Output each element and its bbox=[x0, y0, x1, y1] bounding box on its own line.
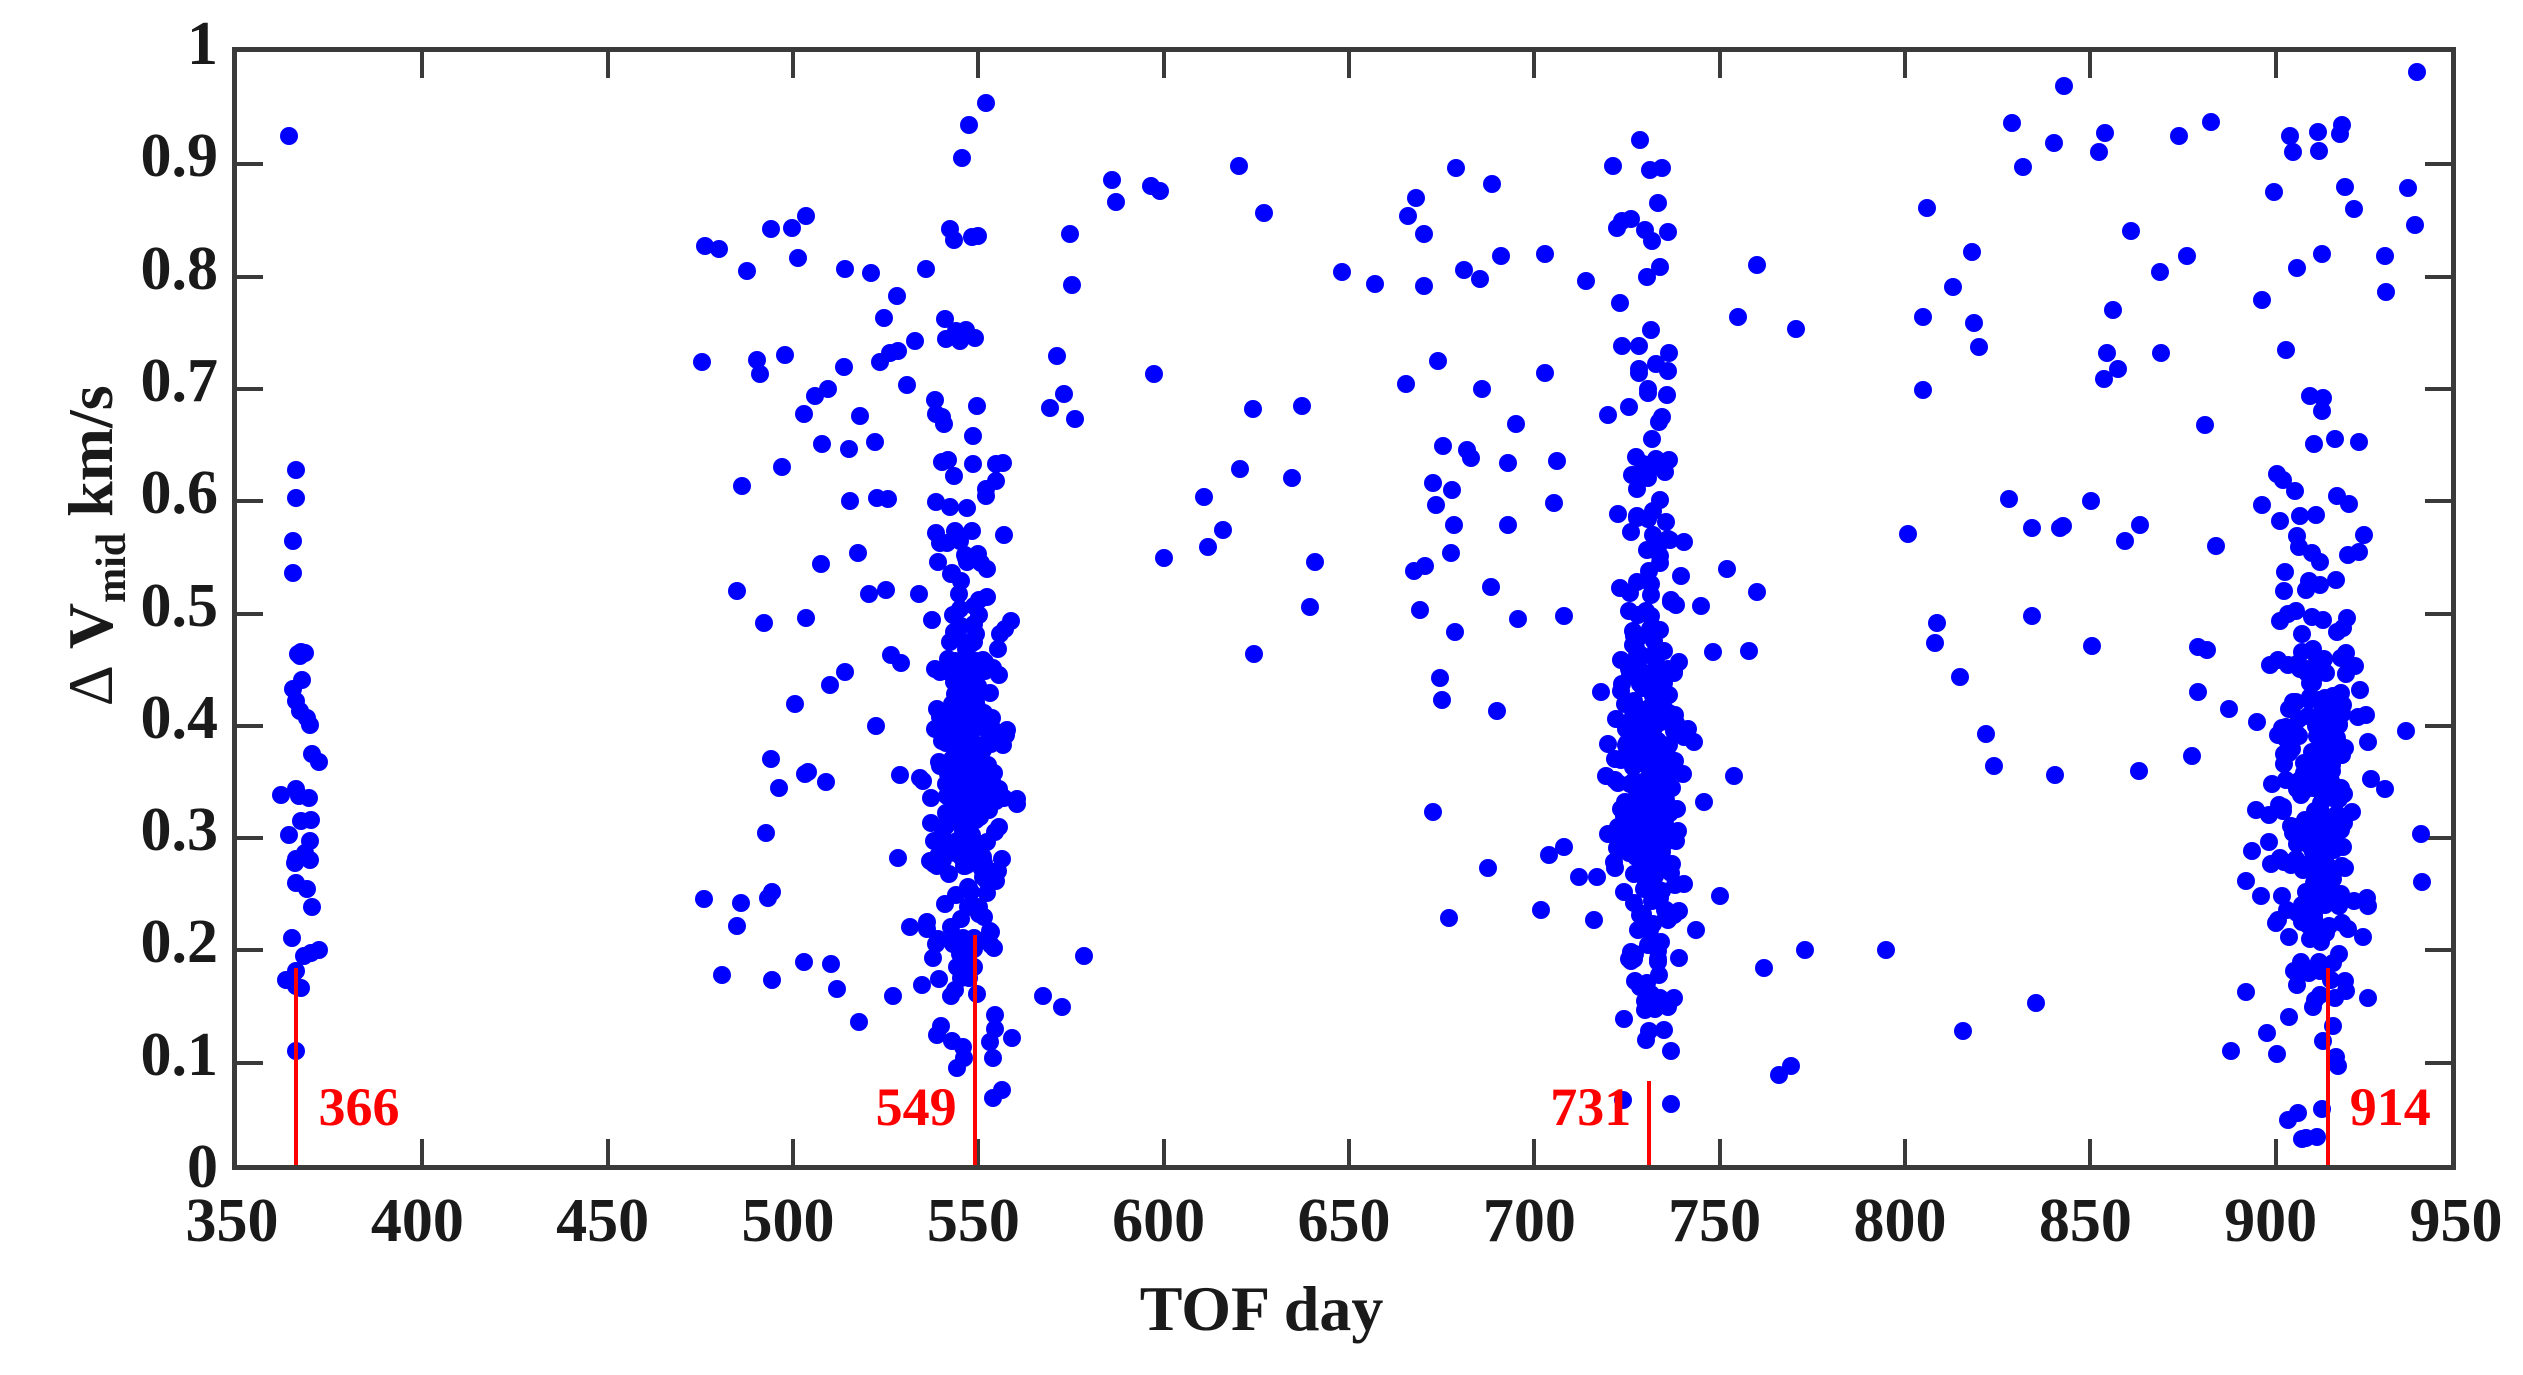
cluster-731-point bbox=[1634, 679, 1652, 697]
cluster-914-point bbox=[2253, 291, 2271, 309]
band-475-540-point bbox=[927, 405, 945, 423]
band-665-730-point bbox=[1431, 669, 1449, 687]
cluster-914-point bbox=[2288, 259, 2306, 277]
band-585-700-point bbox=[1424, 474, 1442, 492]
plot-area[interactable]: 366549731914 bbox=[232, 47, 2456, 1170]
outlier-point bbox=[888, 287, 906, 305]
cluster-549-point bbox=[968, 985, 986, 1003]
band-800-905-point bbox=[2095, 370, 2113, 388]
outlier-point bbox=[1199, 538, 1217, 556]
outlier-point bbox=[2207, 537, 2225, 555]
cluster-914-point bbox=[2243, 842, 2261, 860]
cluster-731-point bbox=[1613, 337, 1631, 355]
band-555-600-point bbox=[1063, 276, 1081, 294]
outlier-point bbox=[1195, 488, 1213, 506]
cluster-731-point bbox=[1642, 321, 1660, 339]
cluster-549-point bbox=[962, 635, 980, 653]
band-665-730-point bbox=[1471, 270, 1489, 288]
outlier-point bbox=[2170, 127, 2188, 145]
cluster-914-point bbox=[2362, 770, 2380, 788]
cluster-731-point bbox=[1624, 758, 1642, 776]
cluster-914-point bbox=[2354, 928, 2372, 946]
cluster-731-point bbox=[1637, 1031, 1655, 1049]
cluster-914-point bbox=[2277, 771, 2295, 789]
band-475-540-point bbox=[776, 346, 794, 364]
outlier-point bbox=[1499, 454, 1517, 472]
outlier-point bbox=[917, 260, 935, 278]
cluster-731-point bbox=[1615, 1010, 1633, 1028]
band-800-905-point bbox=[2258, 1024, 2276, 1042]
band-735-770-point bbox=[1729, 308, 1747, 326]
y-tick-label-0.3: 0.3 bbox=[18, 799, 218, 861]
band-665-730-point bbox=[1397, 375, 1415, 393]
cluster-549-point bbox=[987, 455, 1005, 473]
annotation-label-731: 731 bbox=[1550, 1080, 1631, 1134]
band-475-540-point bbox=[757, 824, 775, 842]
cluster-914-point bbox=[2252, 887, 2270, 905]
band-735-770-point bbox=[1711, 887, 1729, 905]
cluster-549-point bbox=[942, 987, 960, 1005]
outlier-point bbox=[984, 1089, 1002, 1107]
cluster-731-point bbox=[1658, 386, 1676, 404]
band-585-700-point bbox=[1446, 623, 1464, 641]
band-665-730-point bbox=[1509, 610, 1527, 628]
cluster-549-point bbox=[995, 526, 1013, 544]
band-475-540-point bbox=[849, 544, 867, 562]
cluster-731-point bbox=[1630, 628, 1648, 646]
cluster-731-point bbox=[1641, 161, 1659, 179]
band-475-540-point bbox=[728, 582, 746, 600]
cluster-549-point bbox=[926, 720, 944, 738]
cluster-914-point bbox=[2326, 430, 2344, 448]
band-800-905-point bbox=[2183, 747, 2201, 765]
cluster-914-point bbox=[2332, 684, 2350, 702]
band-475-540-point bbox=[797, 609, 815, 627]
cluster-914-point bbox=[2280, 928, 2298, 946]
cluster-366-point bbox=[283, 929, 301, 947]
band-918-940-point bbox=[2335, 814, 2353, 832]
band-475-540-point bbox=[910, 585, 928, 603]
band-555-600-point bbox=[981, 684, 999, 702]
cluster-731-point bbox=[1667, 596, 1685, 614]
cluster-914-point bbox=[2350, 433, 2368, 451]
outlier-point bbox=[287, 489, 305, 507]
band-475-540-point bbox=[889, 849, 907, 867]
band-585-700-point bbox=[1155, 549, 1173, 567]
cluster-914-point bbox=[2349, 708, 2367, 726]
band-585-700-point bbox=[1244, 400, 1262, 418]
cluster-914-point bbox=[2279, 605, 2297, 623]
outlier-point bbox=[1918, 199, 1936, 217]
outlier-point bbox=[1963, 243, 1981, 261]
cluster-731-point bbox=[1670, 949, 1688, 967]
outlier-point bbox=[2345, 200, 2363, 218]
outlier-point bbox=[1366, 275, 1384, 293]
cluster-914-point bbox=[2284, 693, 2302, 711]
outlier-point bbox=[2152, 344, 2170, 362]
cluster-549-point bbox=[945, 623, 963, 641]
outlier-point bbox=[1103, 171, 1121, 189]
band-735-770-point bbox=[1740, 642, 1758, 660]
band-475-540-point bbox=[732, 894, 750, 912]
band-800-905-point bbox=[1926, 634, 1944, 652]
outlier-point bbox=[2122, 222, 2140, 240]
outlier-point bbox=[1877, 941, 1895, 959]
band-665-730-point bbox=[1592, 683, 1610, 701]
y-tick-label-0.5: 0.5 bbox=[18, 575, 218, 637]
outlier-point bbox=[1540, 846, 1558, 864]
cluster-731-point bbox=[1659, 911, 1677, 929]
band-475-540-point bbox=[922, 789, 940, 807]
band-800-905-point bbox=[2237, 872, 2255, 890]
band-475-540-point bbox=[862, 264, 880, 282]
cluster-549-point bbox=[991, 625, 1009, 643]
band-665-730-point bbox=[1447, 159, 1465, 177]
cluster-914-point bbox=[2260, 833, 2278, 851]
band-665-730-point bbox=[1473, 380, 1491, 398]
cluster-914-point bbox=[2284, 143, 2302, 161]
band-585-700-point bbox=[1283, 469, 1301, 487]
cluster-549-point bbox=[968, 397, 986, 415]
band-585-700-point bbox=[1230, 157, 1248, 175]
cluster-914-point bbox=[2299, 960, 2317, 978]
band-665-730-point bbox=[1479, 859, 1497, 877]
band-735-770-point bbox=[1659, 998, 1677, 1016]
cluster-914-point bbox=[2314, 771, 2332, 789]
cluster-914-point bbox=[2305, 435, 2323, 453]
outlier-point bbox=[728, 917, 746, 935]
band-475-540-point bbox=[850, 1013, 868, 1031]
band-555-600-point bbox=[1034, 987, 1052, 1005]
outlier-point bbox=[1214, 521, 1232, 539]
outlier-point bbox=[2408, 63, 2426, 81]
cluster-731-point bbox=[1634, 858, 1652, 876]
band-555-600-point bbox=[1053, 998, 1071, 1016]
cluster-549-point bbox=[958, 499, 976, 517]
band-475-540-point bbox=[773, 458, 791, 476]
band-475-540-point bbox=[789, 249, 807, 267]
annotation-line-914 bbox=[2326, 968, 2330, 1165]
band-475-540-point bbox=[884, 987, 902, 1005]
cluster-914-point bbox=[2359, 989, 2377, 1007]
band-918-940-point bbox=[2406, 216, 2424, 234]
x-tick-label-950: 950 bbox=[2346, 1190, 2523, 1252]
cluster-731-point bbox=[1620, 398, 1638, 416]
band-475-540-point bbox=[882, 646, 900, 664]
outlier-point bbox=[955, 1049, 973, 1067]
outlier-point bbox=[287, 780, 305, 798]
band-665-730-point bbox=[1499, 516, 1517, 534]
annotation-line-731 bbox=[1647, 1081, 1651, 1165]
cluster-914-point bbox=[2279, 1111, 2297, 1129]
y-tick-label-1: 1 bbox=[18, 13, 218, 75]
band-475-540-point bbox=[871, 353, 889, 371]
cluster-731-point bbox=[1660, 451, 1678, 469]
outlier-point bbox=[287, 461, 305, 479]
outlier-point bbox=[1151, 182, 1169, 200]
cluster-914-point bbox=[2327, 571, 2345, 589]
band-665-730-point bbox=[1555, 607, 1573, 625]
annotation-line-549 bbox=[973, 935, 977, 1165]
band-475-540-point bbox=[786, 695, 804, 713]
cluster-549-point bbox=[964, 455, 982, 473]
cluster-914-point bbox=[2308, 1128, 2326, 1146]
band-555-600-point bbox=[1066, 410, 1084, 428]
band-800-905-point bbox=[2261, 656, 2279, 674]
cluster-731-point bbox=[1620, 602, 1638, 620]
band-665-730-point bbox=[1433, 691, 1451, 709]
band-735-770-point bbox=[1704, 643, 1722, 661]
cluster-731-point bbox=[1604, 157, 1622, 175]
cluster-914-point bbox=[2265, 183, 2283, 201]
band-665-730-point bbox=[1532, 901, 1550, 919]
cluster-914-point bbox=[2292, 786, 2310, 804]
band-800-905-point bbox=[2045, 134, 2063, 152]
band-475-540-point bbox=[918, 913, 936, 931]
cluster-914-point bbox=[2311, 576, 2329, 594]
outlier-point bbox=[2104, 301, 2122, 319]
band-475-540-point bbox=[795, 953, 813, 971]
cluster-549-point bbox=[923, 611, 941, 629]
cluster-549-point bbox=[973, 775, 991, 793]
outlier-point bbox=[795, 405, 813, 423]
band-475-540-point bbox=[770, 779, 788, 797]
cluster-366-point bbox=[298, 880, 316, 898]
band-585-700-point bbox=[1231, 460, 1249, 478]
band-800-905-point bbox=[1954, 1022, 1972, 1040]
band-665-730-point bbox=[1482, 578, 1500, 596]
band-555-600-point bbox=[1048, 347, 1066, 365]
cluster-731-point bbox=[1611, 294, 1629, 312]
band-665-730-point bbox=[1424, 803, 1442, 821]
cluster-731-point bbox=[1645, 663, 1663, 681]
band-800-905-point bbox=[2098, 344, 2116, 362]
band-475-540-point bbox=[693, 353, 711, 371]
outlier-point bbox=[1796, 941, 1814, 959]
band-585-700-point bbox=[1306, 553, 1324, 571]
outlier-point bbox=[977, 94, 995, 112]
band-800-905-point bbox=[2003, 114, 2021, 132]
outlier-point bbox=[310, 941, 328, 959]
y-tick-label-0.6: 0.6 bbox=[18, 462, 218, 524]
outlier-point bbox=[310, 753, 328, 771]
cluster-549-point bbox=[958, 553, 976, 571]
band-475-540-point bbox=[891, 766, 909, 784]
band-475-540-point bbox=[828, 980, 846, 998]
cluster-549-point bbox=[945, 765, 963, 783]
outlier-point bbox=[1970, 338, 1988, 356]
band-800-905-point bbox=[1985, 757, 2003, 775]
band-665-730-point bbox=[1627, 821, 1645, 839]
cluster-914-point bbox=[2291, 507, 2309, 525]
band-665-730-point bbox=[1443, 481, 1461, 499]
cluster-914-point bbox=[2334, 619, 2352, 637]
cluster-549-point bbox=[942, 918, 960, 936]
band-665-730-point bbox=[1545, 494, 1563, 512]
band-585-700-point bbox=[1293, 397, 1311, 415]
outlier-point bbox=[866, 433, 884, 451]
band-800-905-point bbox=[1977, 725, 1995, 743]
x-axis-title: TOF day bbox=[0, 1272, 2523, 1346]
band-800-905-point bbox=[2116, 532, 2134, 550]
annotation-label-914: 914 bbox=[2350, 1080, 2431, 1134]
band-475-540-point bbox=[713, 966, 731, 984]
cluster-549-point bbox=[926, 660, 944, 678]
band-585-700-point bbox=[1434, 437, 1452, 455]
cluster-914-point bbox=[2322, 867, 2340, 885]
cluster-731-point bbox=[1651, 491, 1669, 509]
cluster-731-point bbox=[1662, 1042, 1680, 1060]
band-475-540-point bbox=[840, 440, 858, 458]
cluster-549-point bbox=[933, 453, 951, 471]
band-475-540-point bbox=[759, 889, 777, 907]
cluster-731-point bbox=[1631, 131, 1649, 149]
cluster-731-point bbox=[1672, 567, 1690, 585]
band-918-940-point bbox=[2376, 247, 2394, 265]
band-665-730-point bbox=[1427, 496, 1445, 514]
cluster-731-point bbox=[1655, 1021, 1673, 1039]
band-475-540-point bbox=[836, 260, 854, 278]
cluster-914-point bbox=[2276, 563, 2294, 581]
cluster-731-point bbox=[1605, 853, 1623, 871]
cluster-914-point bbox=[2307, 506, 2325, 524]
y-tick-label-0.7: 0.7 bbox=[18, 350, 218, 412]
outlier-point bbox=[1407, 189, 1425, 207]
cluster-731-point bbox=[1642, 607, 1660, 625]
outlier-point bbox=[284, 564, 302, 582]
cluster-914-point bbox=[2340, 495, 2358, 513]
cluster-731-point bbox=[1630, 337, 1648, 355]
cluster-549-point bbox=[945, 467, 963, 485]
band-475-540-point bbox=[914, 772, 932, 790]
band-665-730-point bbox=[1415, 225, 1433, 243]
outlier-point bbox=[1748, 256, 1766, 274]
band-800-905-point bbox=[1944, 278, 1962, 296]
outlier-point bbox=[1577, 272, 1595, 290]
cluster-549-point bbox=[946, 652, 964, 670]
band-735-770-point bbox=[1662, 864, 1680, 882]
cluster-731-point bbox=[1609, 505, 1627, 523]
band-475-540-point bbox=[751, 365, 769, 383]
cluster-914-point bbox=[2351, 681, 2369, 699]
cluster-549-point bbox=[977, 487, 995, 505]
cluster-731-point bbox=[1615, 883, 1633, 901]
band-475-540-point bbox=[733, 477, 751, 495]
annotation-label-549: 549 bbox=[876, 1080, 957, 1134]
band-735-770-point bbox=[1695, 793, 1713, 811]
band-800-905-point bbox=[2202, 113, 2220, 131]
cluster-914-point bbox=[2307, 717, 2325, 735]
band-800-905-point bbox=[1899, 525, 1917, 543]
band-665-730-point bbox=[1536, 364, 1554, 382]
cluster-549-point bbox=[960, 116, 978, 134]
band-475-540-point bbox=[841, 492, 859, 510]
band-918-940-point bbox=[2345, 892, 2363, 910]
outlier-point bbox=[291, 647, 309, 665]
band-735-770-point bbox=[1659, 362, 1677, 380]
band-555-600-point bbox=[1145, 365, 1163, 383]
cluster-914-point bbox=[2274, 798, 2292, 816]
band-585-700-point bbox=[1107, 193, 1125, 211]
annotation-line-366 bbox=[294, 968, 298, 1165]
band-735-770-point bbox=[1748, 583, 1766, 601]
cluster-731-point bbox=[1662, 1095, 1680, 1113]
band-735-770-point bbox=[1725, 767, 1743, 785]
band-800-905-point bbox=[2054, 517, 2072, 535]
cluster-549-point bbox=[951, 945, 969, 963]
band-555-600-point bbox=[1003, 1029, 1021, 1047]
cluster-731-point bbox=[1685, 733, 1703, 751]
outlier-point bbox=[1570, 868, 1588, 886]
band-735-770-point bbox=[1787, 320, 1805, 338]
band-665-730-point bbox=[1411, 601, 1429, 619]
cluster-914-point bbox=[2332, 649, 2350, 667]
outlier-point bbox=[1718, 560, 1736, 578]
outlier-point bbox=[2178, 247, 2196, 265]
cluster-914-point bbox=[2317, 924, 2335, 942]
cluster-731-point bbox=[1637, 802, 1655, 820]
outlier-point bbox=[280, 127, 298, 145]
cluster-914-point bbox=[2267, 914, 2285, 932]
cluster-549-point bbox=[953, 149, 971, 167]
outlier-point bbox=[1429, 352, 1447, 370]
cluster-549-point bbox=[1008, 795, 1026, 813]
outlier-point bbox=[851, 407, 869, 425]
band-918-940-point bbox=[2413, 873, 2431, 891]
band-918-940-point bbox=[2412, 825, 2430, 843]
outlier-point bbox=[1492, 247, 1510, 265]
band-475-540-point bbox=[906, 332, 924, 350]
cluster-731-point bbox=[1650, 966, 1668, 984]
band-585-700-point bbox=[1301, 598, 1319, 616]
annotation-label-366: 366 bbox=[319, 1080, 400, 1134]
band-665-730-point bbox=[1599, 406, 1617, 424]
outlier-point bbox=[2055, 77, 2073, 95]
cluster-366-point bbox=[293, 671, 311, 689]
band-800-905-point bbox=[1914, 381, 1932, 399]
band-475-540-point bbox=[930, 970, 948, 988]
band-800-905-point bbox=[2131, 516, 2149, 534]
cluster-549-point bbox=[973, 716, 991, 734]
outlier-point bbox=[2222, 1042, 2240, 1060]
cluster-731-point bbox=[1585, 911, 1603, 929]
band-475-540-point bbox=[835, 358, 853, 376]
band-800-905-point bbox=[2023, 519, 2041, 537]
band-800-905-point bbox=[2248, 713, 2266, 731]
y-tick-label-0.1: 0.1 bbox=[18, 1024, 218, 1086]
band-475-540-point bbox=[813, 435, 831, 453]
cluster-914-point bbox=[2275, 582, 2293, 600]
outlier-point bbox=[695, 890, 713, 908]
cluster-731-point bbox=[1687, 921, 1705, 939]
band-475-540-point bbox=[836, 663, 854, 681]
cluster-549-point bbox=[941, 220, 959, 238]
cluster-549-point bbox=[924, 949, 942, 967]
band-800-905-point bbox=[1965, 314, 1983, 332]
band-665-730-point bbox=[1588, 868, 1606, 886]
outlier-point bbox=[966, 329, 984, 347]
band-665-730-point bbox=[1442, 544, 1460, 562]
cluster-731-point bbox=[1642, 575, 1660, 593]
cluster-731-point bbox=[1622, 523, 1640, 541]
band-800-905-point bbox=[2014, 158, 2032, 176]
outlier-point bbox=[2281, 127, 2299, 145]
band-475-540-point bbox=[929, 553, 947, 571]
band-475-540-point bbox=[868, 489, 886, 507]
band-800-905-point bbox=[2046, 766, 2064, 784]
cluster-731-point bbox=[1606, 771, 1624, 789]
cluster-914-point bbox=[2339, 546, 2357, 564]
